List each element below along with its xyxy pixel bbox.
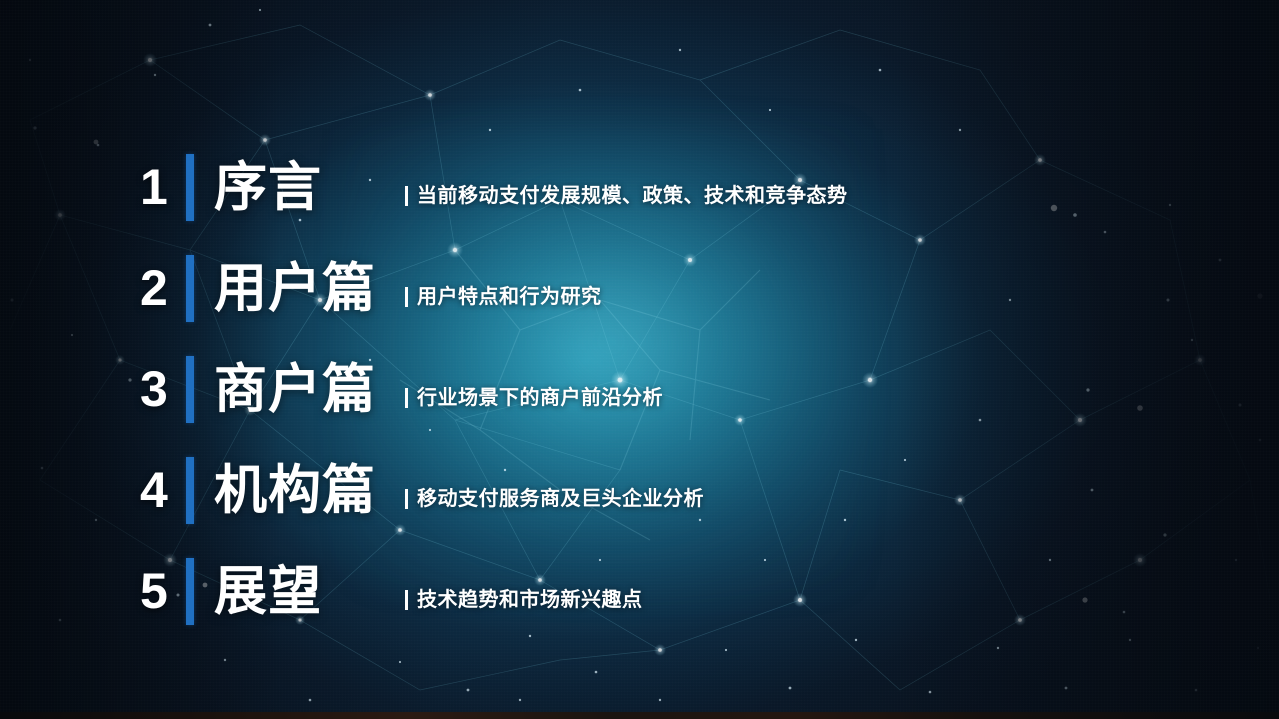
agenda-item-4-description: 移动支付服务商及巨头企业分析: [405, 463, 704, 535]
agenda-item-5[interactable]: 5 展望: [140, 555, 322, 627]
agenda-item-description-text: 移动支付服务商及巨头企业分析: [417, 489, 704, 509]
agenda-item-1[interactable]: 1 序言: [140, 151, 322, 223]
agenda-item-5-description: 技术趋势和市场新兴趣点: [405, 564, 643, 636]
pipe-separator-icon: [405, 590, 408, 610]
agenda-item-number: 2: [140, 263, 186, 313]
agenda-item-1-description: 当前移动支付发展规模、政策、技术和竞争态势: [405, 160, 848, 232]
pipe-separator-icon: [405, 489, 408, 509]
pipe-separator-icon: [405, 186, 408, 206]
agenda-item-2-description: 用户特点和行为研究: [405, 261, 602, 333]
agenda-item-2[interactable]: 2 用户篇: [140, 252, 376, 324]
pipe-separator-icon: [405, 388, 408, 408]
agenda-item-title: 机构篇: [214, 464, 376, 517]
agenda-item-description-text: 当前移动支付发展规模、政策、技术和竞争态势: [417, 186, 848, 206]
agenda-item-4[interactable]: 4 机构篇: [140, 454, 376, 526]
agenda-item-number: 1: [140, 162, 186, 212]
agenda-item-divider-bar: [186, 558, 194, 625]
agenda-item-3[interactable]: 3 商户篇: [140, 353, 376, 425]
agenda-item-divider-bar: [186, 154, 194, 221]
agenda-item-divider-bar: [186, 255, 194, 322]
agenda-slide: 1 序言 当前移动支付发展规模、政策、技术和竞争态势 2 用户篇 用户特点和行为…: [0, 0, 1279, 719]
pipe-separator-icon: [405, 287, 408, 307]
agenda-item-divider-bar: [186, 457, 194, 524]
agenda-item-divider-bar: [186, 356, 194, 423]
agenda-item-number: 4: [140, 465, 186, 515]
agenda-item-3-description: 行业场景下的商户前沿分析: [405, 362, 663, 434]
agenda-item-description-text: 行业场景下的商户前沿分析: [417, 388, 663, 408]
agenda-item-number: 5: [140, 566, 186, 616]
agenda-item-title: 展望: [214, 565, 322, 618]
agenda-item-title: 序言: [214, 161, 322, 214]
agenda-item-description-text: 技术趋势和市场新兴趣点: [417, 590, 643, 610]
agenda-item-title: 用户篇: [214, 262, 376, 315]
agenda-item-title: 商户篇: [214, 363, 376, 416]
agenda-item-number: 3: [140, 364, 186, 414]
agenda-list: 1 序言 当前移动支付发展规模、政策、技术和竞争态势 2 用户篇 用户特点和行为…: [0, 0, 1279, 719]
agenda-item-description-text: 用户特点和行为研究: [417, 287, 602, 307]
